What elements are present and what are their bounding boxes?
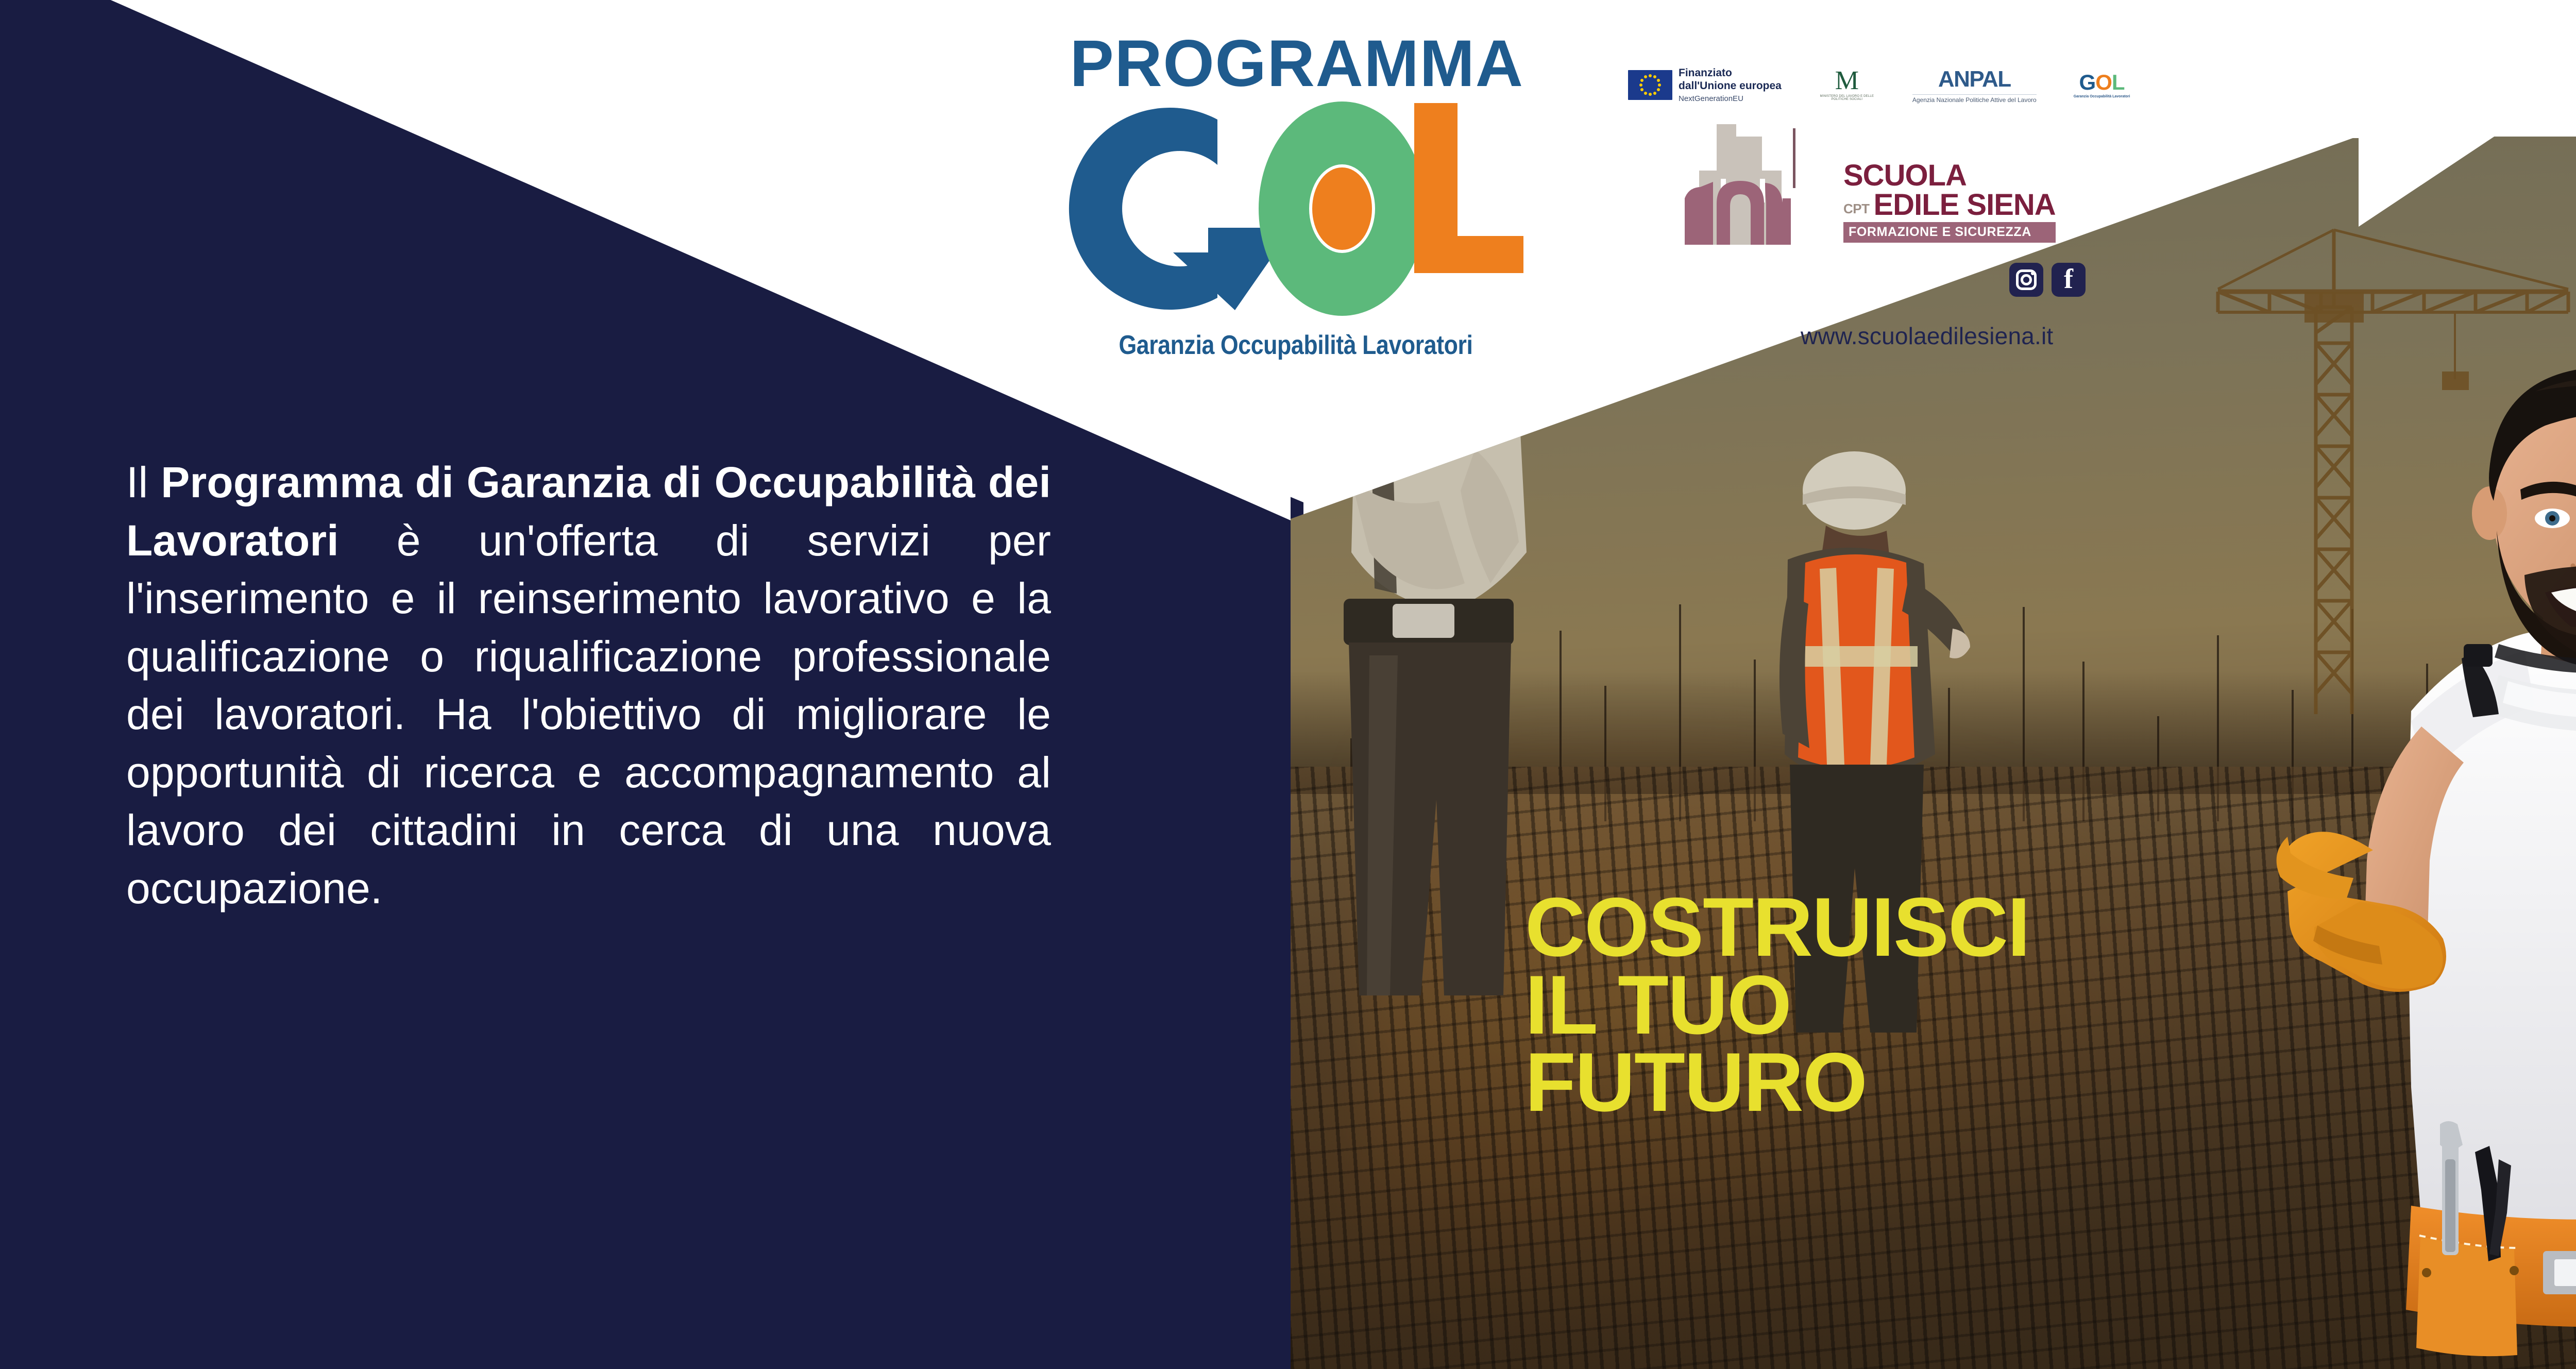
facebook-glyph: f xyxy=(2052,263,2086,297)
foreground-worker-photo xyxy=(2257,314,2576,1369)
instagram-dot xyxy=(2031,272,2035,275)
headline-line-1: COSTRUISCI xyxy=(1525,889,2029,967)
gol-subtitle: Garanzia Occupabilità Lavoratori xyxy=(1061,330,1531,361)
social-links: f xyxy=(2009,263,2086,297)
ses-text-block: SCUOLA CPT EDILE SIENA FORMAZIONE E SICU… xyxy=(1843,161,2056,245)
gol-mini-wordmark: GOL xyxy=(2074,72,2130,93)
programma-wordmark: PROGRAMMA xyxy=(1055,26,1539,102)
arch-building-icon xyxy=(1685,121,1839,245)
gol-mini-caption: Garanzia Occupabilità Lavoratori xyxy=(2074,95,2130,98)
ministry-mark: M xyxy=(1819,69,1875,93)
instagram-lens xyxy=(2021,274,2032,285)
eu-line3: NextGenerationEU xyxy=(1679,94,1782,104)
headline-line-2: IL TUO xyxy=(1525,967,2029,1044)
partner-logo-row: Finanziato dall'Unione europea NextGener… xyxy=(1628,54,2154,116)
eu-funding-logo: Finanziato dall'Unione europea NextGener… xyxy=(1628,66,1782,104)
ministry-caption: MINISTERO DEL LAVORO E DELLE POLITICHE S… xyxy=(1819,95,1875,101)
gol-mark-icon xyxy=(1054,98,1538,319)
anpal-logo: ANPAL Agenzia Nazionale Politiche Attive… xyxy=(1912,66,2037,104)
programma-gol-logo: PROGRAMMA Garanzia Occupabilità Lavorato… xyxy=(1023,26,1569,402)
blurb-rest: è un'offerta di servizi per l'inseriment… xyxy=(126,516,1051,912)
eu-funding-text: Finanziato dall'Unione europea NextGener… xyxy=(1679,66,1782,104)
anpal-wordmark: ANPAL xyxy=(1912,66,2037,92)
ses-line-scuola: SCUOLA xyxy=(1843,161,2056,191)
eu-line1: Finanziato xyxy=(1679,67,1732,79)
facebook-icon[interactable]: f xyxy=(2052,263,2086,297)
ses-line-edile-siena: EDILE SIENA xyxy=(1874,191,2056,220)
gol-mini-logo: GOL Garanzia Occupabilità Lavoratori xyxy=(2074,72,2130,98)
scuola-edile-siena-logo: SCUOLA CPT EDILE SIENA FORMAZIONE E SICU… xyxy=(1685,116,2112,245)
ses-tagline: FORMAZIONE E SICUREZZA xyxy=(1843,222,2056,243)
ses-cpt-label: CPT xyxy=(1843,201,1870,220)
blurb-lead: Il xyxy=(126,458,161,506)
eu-flag-icon xyxy=(1628,70,1672,100)
ministry-logo: M MINISTERO DEL LAVORO E DELLE POLITICHE… xyxy=(1819,69,1875,101)
eu-line2: dall'Unione europea xyxy=(1679,80,1782,92)
website-url[interactable]: www.scuolaedilesiena.it xyxy=(1801,322,2053,350)
headline-line-3: FUTURO xyxy=(1525,1044,2029,1122)
promotional-banner: Il Programma di Garanzia di Occupabilità… xyxy=(0,0,2576,1369)
campaign-headline: COSTRUISCI IL TUO FUTURO xyxy=(1525,889,2029,1122)
instagram-icon[interactable] xyxy=(2009,263,2043,297)
anpal-caption: Agenzia Nazionale Politiche Attive del L… xyxy=(1912,94,2037,104)
program-description: Il Programma di Garanzia di Occupabilità… xyxy=(126,453,1051,917)
